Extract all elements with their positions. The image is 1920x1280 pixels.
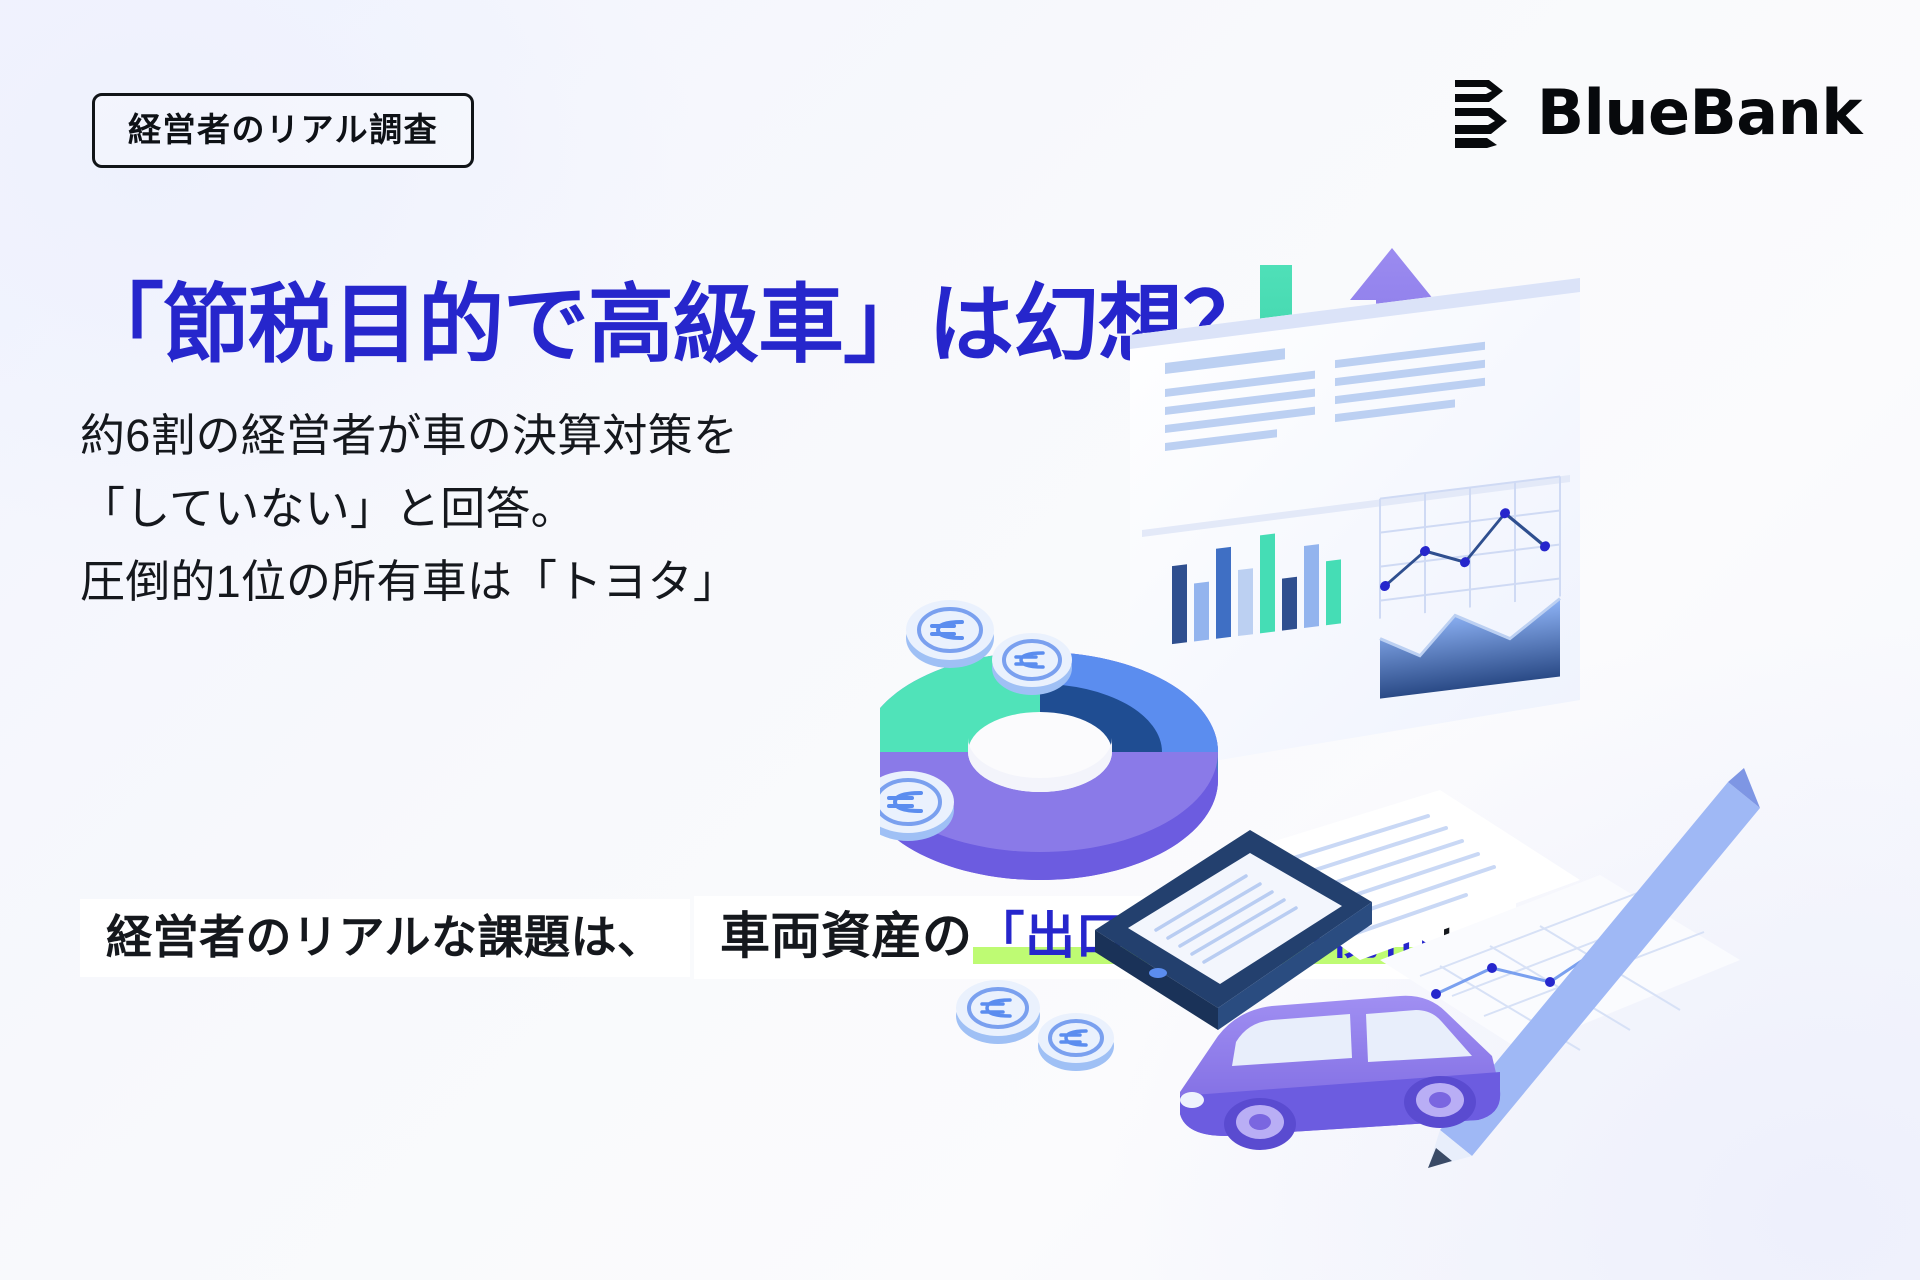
sub-copy-line-3: 圧倒的1位の所有車は「トヨタ」 (80, 546, 738, 619)
sub-copy-line-2: 「していない」と回答。 (80, 473, 738, 546)
key-message-line-1: 経営者のリアルな課題は、 (80, 899, 690, 977)
coin-icon (906, 600, 994, 668)
coin-icon (956, 980, 1040, 1044)
car-wheel (1404, 1076, 1476, 1128)
poster-canvas: 経営者のリアル調査 BlueBank 「節税目的で高級車」は幻想？ 約6割の経営… (0, 0, 1920, 1280)
bluebank-b-mark-icon (1453, 78, 1511, 148)
sub-copy: 約6割の経営者が車の決算対策を 「していない」と回答。 圧倒的1位の所有車は「ト… (80, 400, 738, 619)
car-wheel (1224, 1098, 1296, 1150)
coin-icon (1038, 1013, 1114, 1071)
monitor-dashboard (1130, 278, 1580, 775)
brand-name: BlueBank (1537, 82, 1862, 144)
survey-badge: 経営者のリアル調査 (92, 93, 474, 168)
coin-icon (992, 633, 1072, 695)
isometric-business-analytics-illustration (880, 230, 1880, 1180)
brand-logo: BlueBank (1453, 78, 1862, 148)
sub-copy-line-1: 約6割の経営者が車の決算対策を (80, 400, 738, 473)
